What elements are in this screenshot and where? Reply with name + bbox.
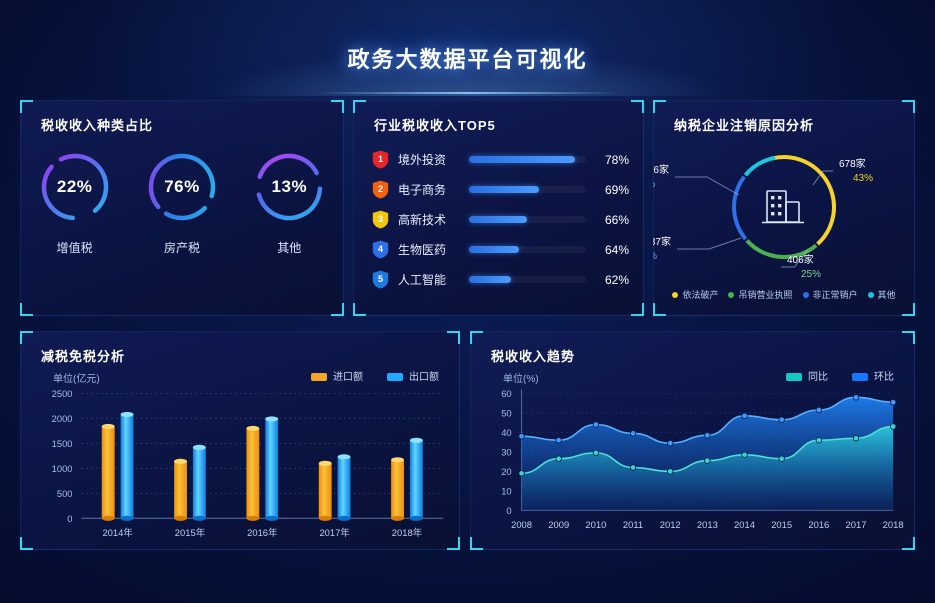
bar-column[interactable] <box>193 445 206 521</box>
donut-leader-line <box>675 177 739 195</box>
trend-data-point[interactable] <box>890 399 896 405</box>
top5-progress-fill <box>469 216 527 223</box>
panel-industry-top5: 行业税收收入TOP5 1境外投资78%2电子商务69%3高新技术66%4生物医药… <box>353 100 644 316</box>
gauge-item[interactable]: 13% 其他 <box>243 149 335 256</box>
trend-data-point[interactable] <box>519 471 525 477</box>
corner-bracket-br <box>902 303 915 316</box>
gauge-label: 房产税 <box>136 239 228 256</box>
top5-row[interactable]: 1境外投资78% <box>372 145 629 174</box>
top5-progress-fill <box>469 276 511 283</box>
trend-data-point[interactable] <box>779 417 785 423</box>
trend-y-tick-label: 10 <box>501 485 511 496</box>
bar-column[interactable] <box>174 459 187 521</box>
trend-x-tick-label: 2011 <box>623 519 643 530</box>
donut-legend-item[interactable]: 非正常销户 <box>803 288 858 301</box>
gauge-ring-2: 13% <box>251 149 327 225</box>
top5-industry-name: 高新技术 <box>398 211 460 228</box>
donut-segment[interactable] <box>723 146 845 268</box>
trend-data-point[interactable] <box>630 465 636 471</box>
bar-column[interactable] <box>265 416 278 521</box>
top5-progress-track <box>469 186 586 193</box>
legend-dot-icon <box>803 292 809 298</box>
donut-label-percent: 12% <box>653 179 655 190</box>
gauge-label: 其他 <box>243 239 335 256</box>
trend-x-tick-label: 2018 <box>883 519 904 530</box>
rank-badge-icon: 2 <box>372 180 389 199</box>
trend-data-point[interactable] <box>816 407 822 413</box>
trend-data-point[interactable] <box>667 440 673 446</box>
trend-data-point[interactable] <box>853 435 859 441</box>
building-icon <box>762 191 804 223</box>
top5-row[interactable]: 3高新技术66% <box>372 205 629 234</box>
trend-y-tick-label: 40 <box>501 427 511 438</box>
trend-data-point[interactable] <box>779 456 785 462</box>
trend-y-tick-label: 20 <box>501 466 511 477</box>
trend-x-tick-label: 2010 <box>585 519 606 530</box>
trend-data-point[interactable] <box>667 469 673 475</box>
gauge-ring-0: 22% <box>37 149 113 225</box>
donut-legend-item[interactable]: 其他 <box>868 288 896 301</box>
legend-dot-icon <box>868 292 874 298</box>
donut-legend-item[interactable]: 吊销营业执照 <box>728 288 792 301</box>
rank-badge-icon: 4 <box>372 240 389 259</box>
legend-dot-icon <box>672 292 678 298</box>
panel-cancel-reason: 纳税企业注销原因分析 678家43%406家25%387家22%276家12% … <box>653 100 915 316</box>
top5-progress-track <box>469 216 586 223</box>
top5-industry-name: 人工智能 <box>398 271 460 288</box>
donut-label-count: 678家 <box>839 157 866 170</box>
donut-label-percent: 22% <box>653 251 657 262</box>
bar-y-tick-label: 0 <box>67 513 72 524</box>
corner-bracket-tl <box>353 100 366 113</box>
rank-number: 4 <box>372 240 389 259</box>
panel-title-top5: 行业税收收入TOP5 <box>374 115 496 134</box>
trend-data-point[interactable] <box>853 395 859 401</box>
donut-segment[interactable] <box>723 146 845 268</box>
trend-data-point[interactable] <box>742 452 748 458</box>
bar-y-tick-label: 2000 <box>52 413 73 424</box>
top5-progress-track <box>469 246 586 253</box>
trend-data-point[interactable] <box>593 450 599 456</box>
bar-x-tick-label: 2017年 <box>319 527 349 538</box>
gauge-item[interactable]: 76% 房产税 <box>136 149 228 256</box>
donut-label-count: 276家 <box>653 163 669 176</box>
donut-legend-label: 吊销营业执照 <box>738 288 792 301</box>
bar-column[interactable] <box>102 424 115 521</box>
top5-row[interactable]: 2电子商务69% <box>372 175 629 204</box>
top5-percent-value: 62% <box>595 273 629 287</box>
trend-data-point[interactable] <box>890 424 896 430</box>
gauge-label: 增值税 <box>29 239 121 256</box>
donut-legend-label: 非正常销户 <box>813 288 858 301</box>
rank-badge-icon: 1 <box>372 150 389 169</box>
rank-number: 2 <box>372 180 389 199</box>
bar-column[interactable] <box>319 461 332 521</box>
corner-bracket-tl <box>20 100 33 113</box>
trend-chart-plot[interactable]: 0102030405060200820092010201120122013201… <box>471 332 914 549</box>
bar-x-tick-label: 2016年 <box>247 527 277 538</box>
donut-legend-label: 依法破产 <box>682 288 718 301</box>
corner-bracket-bl <box>653 303 666 316</box>
panel-title-cancel-reason: 纳税企业注销原因分析 <box>674 115 814 134</box>
bar-x-tick-label: 2015年 <box>175 527 205 538</box>
gauge-value: 76% <box>144 149 220 225</box>
corner-bracket-br <box>331 303 344 316</box>
rank-number: 5 <box>372 270 389 289</box>
donut-legend-item[interactable]: 依法破产 <box>672 288 718 301</box>
bar-x-tick-label: 2018年 <box>392 527 422 538</box>
donut-chart[interactable]: 678家43%406家25%387家22%276家12% <box>654 133 914 281</box>
donut-label-percent: 25% <box>801 269 821 280</box>
bar-x-tick-label: 2014年 <box>102 527 132 538</box>
donut-leader-line <box>677 238 741 249</box>
bar-chart-plot[interactable]: 050010001500200025002014年2015年2016年2017年… <box>21 332 459 549</box>
bar-y-tick-label: 1500 <box>52 438 73 449</box>
trend-x-tick-label: 2008 <box>511 519 532 530</box>
donut-legend-label: 其他 <box>878 288 896 301</box>
bar-y-tick-label: 500 <box>57 488 73 499</box>
trend-x-tick-label: 2014 <box>734 519 755 530</box>
top5-industry-name: 境外投资 <box>398 151 460 168</box>
donut-label-percent: 43% <box>853 173 873 184</box>
bar-column[interactable] <box>246 426 259 521</box>
trend-x-tick-label: 2009 <box>548 519 569 530</box>
donut-label-count: 387家 <box>653 235 671 248</box>
corner-bracket-bl <box>353 303 366 316</box>
trend-x-tick-label: 2015 <box>771 519 792 530</box>
donut-segment[interactable] <box>723 146 845 268</box>
gauge-item[interactable]: 22% 增值税 <box>29 149 121 256</box>
top5-progress-track <box>469 156 586 163</box>
rank-badge-icon: 3 <box>372 210 389 229</box>
trend-y-tick-label: 30 <box>501 446 511 457</box>
trend-data-point[interactable] <box>705 458 711 464</box>
trend-data-point[interactable] <box>816 437 822 443</box>
trend-data-point[interactable] <box>556 456 562 462</box>
trend-data-point[interactable] <box>630 431 636 437</box>
donut-segment[interactable] <box>723 146 845 268</box>
bar-column[interactable] <box>121 412 134 521</box>
trend-y-tick-label: 60 <box>501 388 511 399</box>
trend-data-point[interactable] <box>519 434 525 440</box>
top5-progress-fill <box>469 246 519 253</box>
panel-reduction-analysis: 减税免税分析 单位(亿元) 进口额 出口额 050010001500200025… <box>20 331 460 550</box>
donut-legend: 依法破产吊销营业执照非正常销户其他 <box>654 288 914 301</box>
corner-bracket-tr <box>631 100 644 113</box>
page-title-text: 政务大数据平台可视化 <box>347 42 587 74</box>
corner-bracket-tl <box>653 100 666 113</box>
trend-data-point[interactable] <box>556 437 562 443</box>
trend-y-tick-label: 0 <box>506 505 511 516</box>
trend-x-tick-label: 2012 <box>660 519 681 530</box>
bar-column[interactable] <box>391 457 404 521</box>
trend-x-tick-label: 2017 <box>846 519 867 530</box>
trend-x-tick-label: 2016 <box>808 519 829 530</box>
trend-data-point[interactable] <box>742 413 748 419</box>
bar-y-tick-label: 2500 <box>52 388 73 399</box>
gauge-value: 13% <box>251 149 327 225</box>
bar-column[interactable] <box>338 454 351 521</box>
dashboard-root: 政务大数据平台可视化 税收收入种类占比 <box>0 0 935 603</box>
top5-row[interactable]: 5人工智能62% <box>372 265 629 294</box>
rank-number: 1 <box>372 150 389 169</box>
corner-bracket-bl <box>20 303 33 316</box>
rank-badge-icon: 5 <box>372 270 389 289</box>
top5-percent-value: 78% <box>595 153 629 167</box>
top5-industry-name: 生物医药 <box>398 241 460 258</box>
title-underline <box>318 92 618 94</box>
trend-data-point[interactable] <box>593 422 599 428</box>
panel-title-tax-share: 税收收入种类占比 <box>41 115 153 134</box>
gauge-value: 22% <box>37 149 113 225</box>
bar-column[interactable] <box>410 438 423 521</box>
corner-bracket-tr <box>331 100 344 113</box>
top5-percent-value: 66% <box>595 213 629 227</box>
trend-y-tick-label: 50 <box>501 407 511 418</box>
page-title: 政务大数据平台可视化 <box>0 42 935 74</box>
legend-dot-icon <box>728 292 734 298</box>
top5-percent-value: 64% <box>595 243 629 257</box>
panel-tax-share: 税收收入种类占比 22% <box>20 100 344 316</box>
corner-bracket-br <box>631 303 644 316</box>
trend-data-point[interactable] <box>705 433 711 439</box>
top5-row[interactable]: 4生物医药64% <box>372 235 629 264</box>
donut-label-count: 406家 <box>787 253 814 266</box>
panel-tax-trend: 税收收入趋势 单位(%) 同比 环比 010203040506020082009… <box>470 331 915 550</box>
top5-progress-track <box>469 276 586 283</box>
rank-number: 3 <box>372 210 389 229</box>
top5-industry-name: 电子商务 <box>398 181 460 198</box>
top5-progress-fill <box>469 186 539 193</box>
trend-x-tick-label: 2013 <box>697 519 718 530</box>
corner-bracket-tr <box>902 100 915 113</box>
top5-progress-fill <box>469 156 575 163</box>
bar-y-tick-label: 1000 <box>52 463 73 474</box>
gauge-ring-1: 76% <box>144 149 220 225</box>
top5-percent-value: 69% <box>595 183 629 197</box>
gauge-group: 22% 增值税 <box>21 149 343 256</box>
top5-list: 1境外投资78%2电子商务69%3高新技术66%4生物医药64%5人工智能62% <box>372 145 629 295</box>
